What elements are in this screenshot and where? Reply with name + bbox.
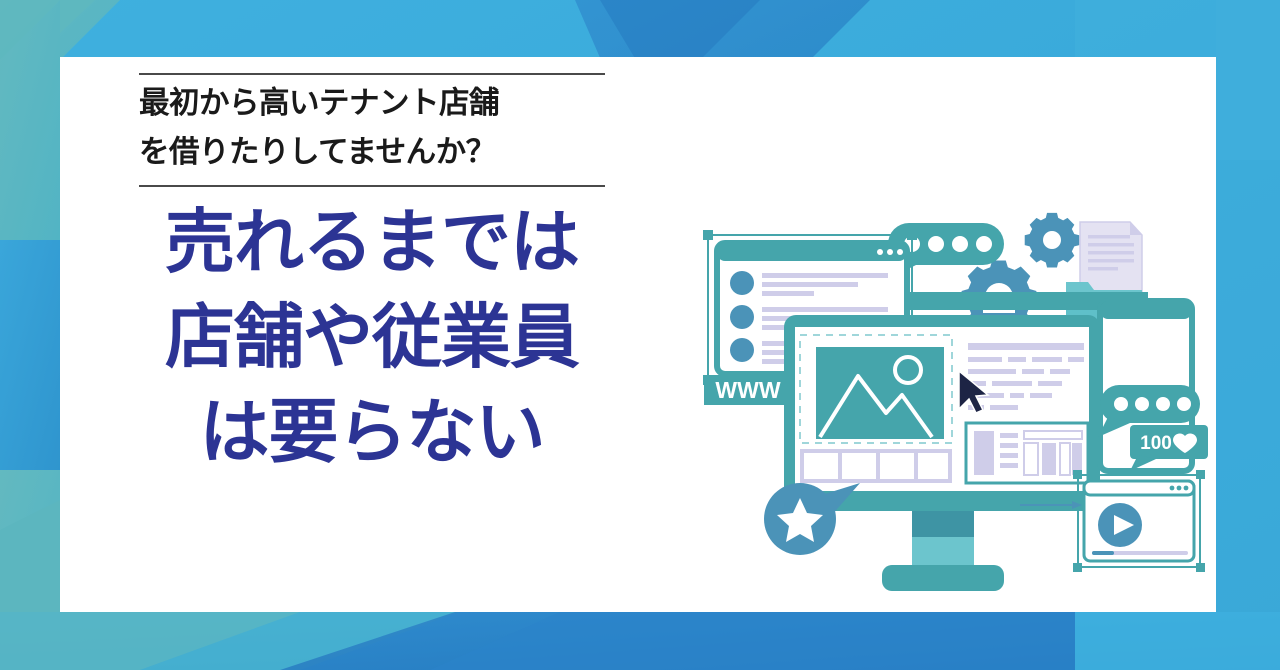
headline-line-2: 店舗や従業員 bbox=[139, 290, 605, 385]
star-badge bbox=[764, 483, 860, 555]
www-badge: WWW bbox=[704, 375, 792, 405]
page-title: 売れるまでは 店舗や従業員 は要らない bbox=[139, 187, 605, 480]
kicker-line-2: を借りたりしてませんか？ bbox=[139, 130, 609, 179]
layout-preview-window bbox=[966, 423, 1088, 483]
video-window[interactable] bbox=[1073, 470, 1205, 572]
main-monitor[interactable] bbox=[784, 315, 1100, 591]
likes-count: 100 bbox=[1140, 433, 1172, 454]
headline-line-1: 売れるまでは bbox=[139, 195, 605, 290]
window-dots bbox=[877, 249, 903, 255]
web-commerce-illustration: WWW bbox=[680, 187, 1210, 607]
headline-line-3: は要らない bbox=[139, 385, 605, 480]
content-card: 最初から高いテナント店舗 を借りたりしてませんか？ 売れるまでは 店舗や従業員 … bbox=[60, 57, 1216, 612]
image-placeholder-icon bbox=[816, 347, 944, 439]
www-label: WWW bbox=[715, 377, 780, 403]
headline-block: 最初から高いテナント店舗 を借りたりしてませんか？ 売れるまでは 店舗や従業員 … bbox=[139, 73, 609, 480]
kicker-line-1: 最初から高いテナント店舗 bbox=[139, 75, 609, 130]
